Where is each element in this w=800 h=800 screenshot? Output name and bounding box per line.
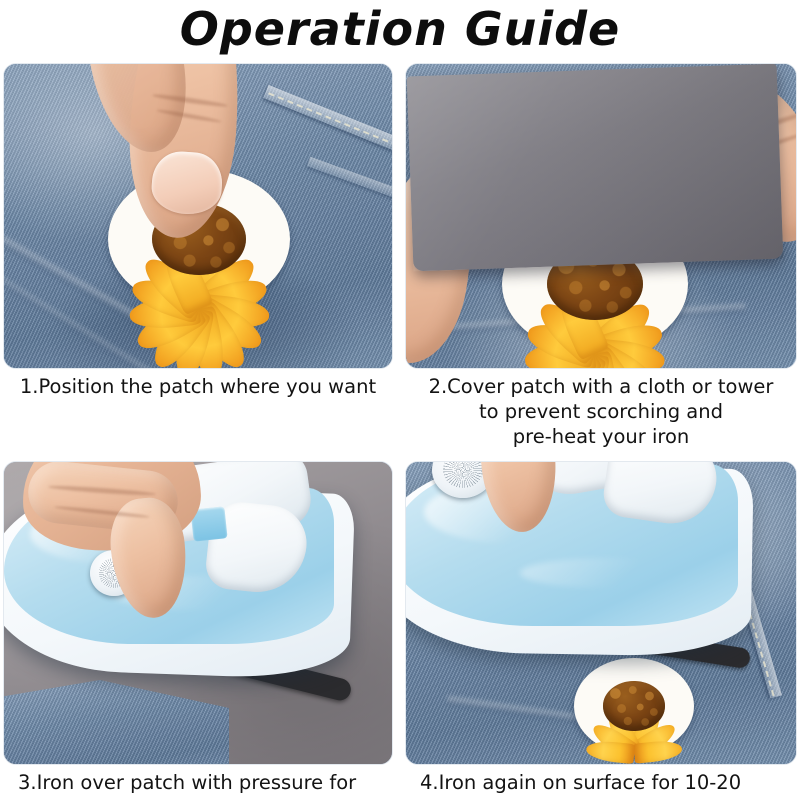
step-1-caption: 1.Position the patch where you want [4,374,392,399]
scene-position-patch [4,64,392,368]
caption-line: 1.Position the patch where you want [4,374,392,399]
step-4-image [406,462,796,764]
step-3-image [4,462,392,764]
caption-line: 2.Cover patch with a cloth or tower [406,374,796,399]
steam-iron [406,462,770,694]
step-2-image [406,64,796,368]
scene-iron-on-surface [406,462,796,764]
step-3-caption: 3.Iron over patch with pressure for [4,770,392,795]
dial-ticks [443,462,483,488]
caption-line: 4.Iron again on surface for 10-20 [420,770,796,795]
cloth-sheen [407,64,784,271]
caption-line: to prevent scorching and [406,399,796,424]
protective-cloth [407,64,784,271]
caption-line: 3.Iron over patch with pressure for [18,770,392,795]
scene-iron-over-cloth [4,462,392,764]
iron-highlight-2 [520,558,700,588]
scene-cover-with-cloth [406,64,796,368]
step-2-caption: 2.Cover patch with a cloth or tower to p… [406,374,796,449]
caption-line: pre-heat your iron [406,424,796,449]
step-4-caption: 4.Iron again on surface for 10-20 [406,770,796,795]
page-title: Operation Guide [0,0,800,58]
step-1-image [4,64,392,368]
